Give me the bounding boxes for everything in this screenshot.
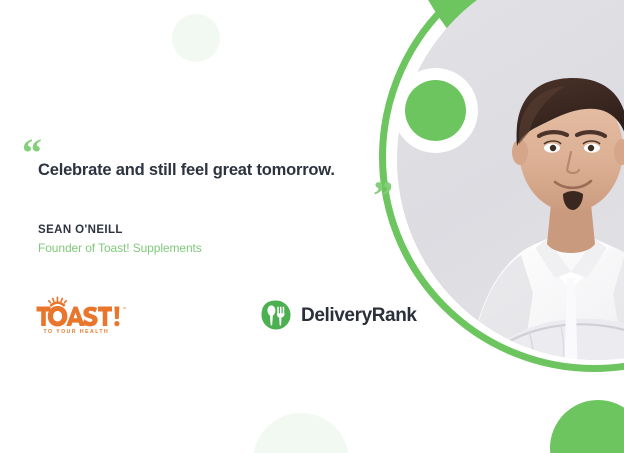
toast-logo: ™ TO YOUR HEALTH: [36, 296, 136, 336]
deliveryrank-logo: DeliveryRank: [259, 298, 417, 334]
quote-close-icon: ”: [373, 176, 391, 216]
testimonial-card: “ Celebrate and still feel great tomorro…: [0, 0, 624, 453]
author-name: SEAN O'NEILL: [38, 224, 123, 236]
toast-trademark: ™: [122, 306, 126, 311]
deliveryrank-mark-icon: [259, 299, 293, 333]
author-role: Founder of Toast! Supplements: [38, 241, 202, 255]
quote-text: Celebrate and still feel great tomorrow.: [38, 159, 368, 181]
deliveryrank-wordmark: DeliveryRank: [301, 305, 417, 327]
content-group: “ Celebrate and still feel great tomorro…: [0, 0, 420, 453]
toast-tagline: TO YOUR HEALTH: [44, 329, 110, 335]
